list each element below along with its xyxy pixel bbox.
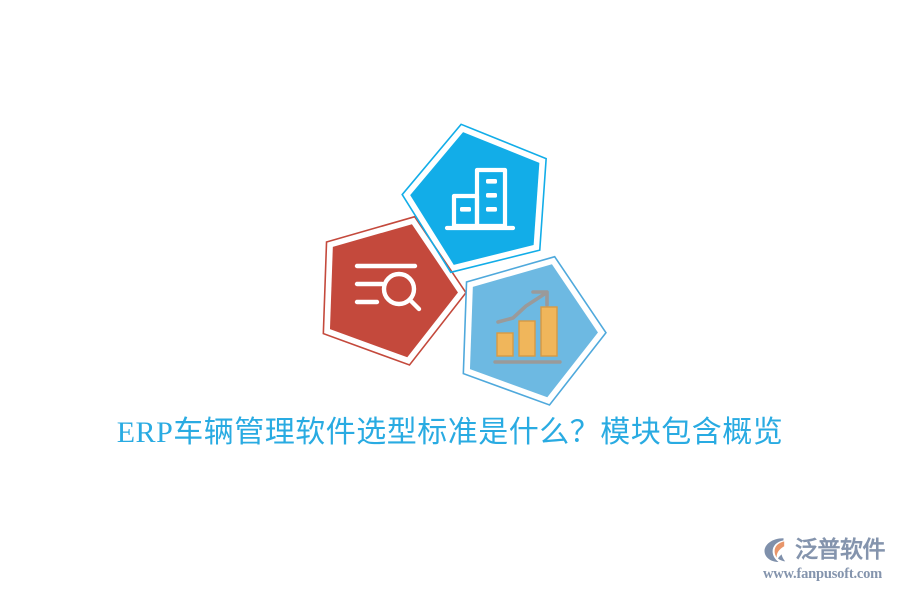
fanpu-logo-mark-icon: [762, 535, 792, 565]
brand-name: 泛普软件: [795, 535, 885, 565]
pentagon-cluster-graphic: [300, 110, 620, 410]
page-title: ERP车辆管理软件选型标准是什么？模块包含概览: [0, 411, 900, 455]
page-canvas: ERP车辆管理软件选型标准是什么？模块包含概览 泛普软件 www.fanpuso…: [0, 0, 900, 600]
watermark-logo: 泛普软件 www.fanpusoft.com: [762, 533, 894, 589]
brand-url: www.fanpusoft.com: [762, 566, 894, 583]
